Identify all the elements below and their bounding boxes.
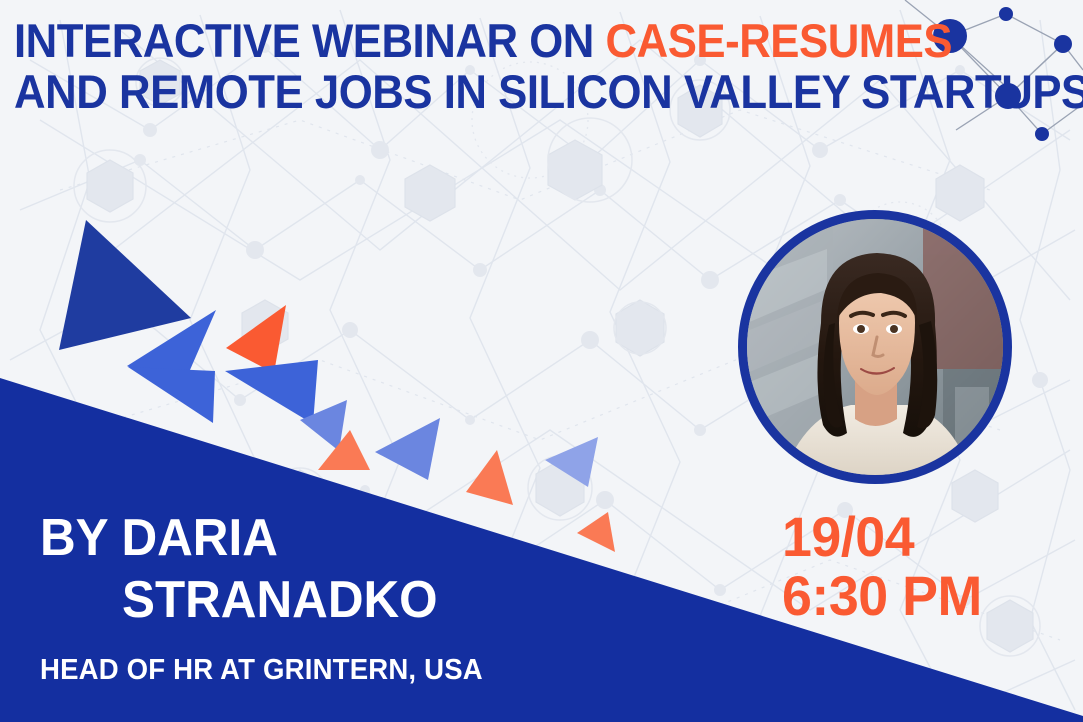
- speaker-role: HEAD OF HR AT GRINTERN, USA: [40, 654, 483, 687]
- triangle-orange-4: [577, 512, 615, 552]
- webinar-banner: INTERACTIVE WEBINAR ON CASE-RESUMES AND …: [0, 0, 1083, 722]
- speaker-info: BY DARIA STRANADKO HEAD OF HR AT GRINTER…: [40, 512, 506, 687]
- portrait-photo-image: [747, 219, 1003, 475]
- headline-accent-text: CASE-RESUMES: [606, 14, 953, 67]
- speaker-byline: BY DARIA: [40, 512, 483, 564]
- triangle-blue-mid-3: [225, 360, 318, 424]
- headline-line-1-text: INTERACTIVE WEBINAR ON: [14, 14, 606, 67]
- triangle-orange-3: [466, 450, 513, 505]
- speaker-portrait: [738, 210, 1012, 484]
- headline-line-1: INTERACTIVE WEBINAR ON CASE-RESUMES: [14, 18, 1083, 64]
- speaker-surname: STRANADKO: [122, 574, 487, 626]
- event-time: 6:30 PM: [782, 567, 982, 626]
- triangle-orange-1: [226, 305, 286, 373]
- triangle-blue-mid-2: [128, 367, 215, 423]
- headline: INTERACTIVE WEBINAR ON CASE-RESUMES AND …: [14, 18, 1083, 120]
- headline-line-2: AND REMOTE JOBS IN SILICON VALLEY STARTU…: [14, 69, 1083, 115]
- event-date: 19/04: [782, 508, 982, 567]
- event-schedule: 19/04 6:30 PM: [782, 508, 990, 626]
- triangle-blue-dark-large: [59, 220, 191, 350]
- triangle-blue-light-2: [375, 418, 440, 480]
- triangle-blue-light-3: [545, 437, 598, 487]
